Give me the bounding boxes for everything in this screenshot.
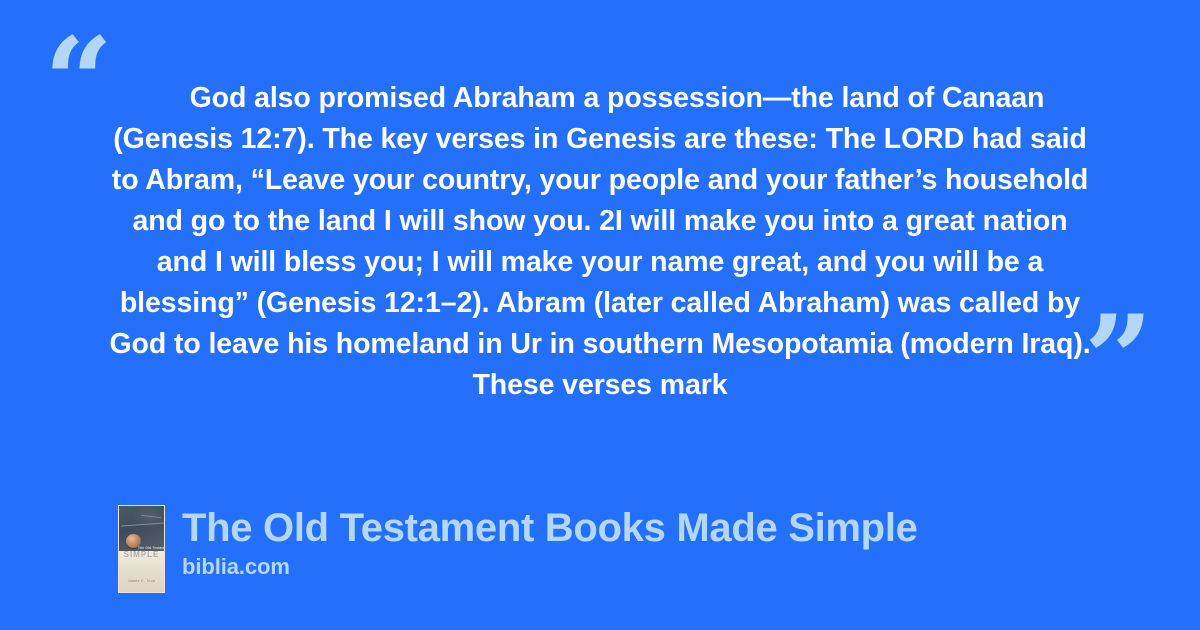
- opening-quote-icon: “: [44, 22, 111, 142]
- closing-quote-icon: ”: [1084, 300, 1151, 420]
- book-title: The Old Testament Books Made Simple: [182, 505, 918, 551]
- footer-text-block: The Old Testament Books Made Simple bibl…: [182, 505, 918, 581]
- footer: The Old Testament SIMPLE James K. Todd T…: [118, 505, 918, 593]
- quote-text: God also promised Abraham a possession—t…: [108, 78, 1092, 406]
- source-domain[interactable]: biblia.com: [182, 553, 918, 581]
- quote-card: “ God also promised Abraham a possession…: [0, 0, 1200, 630]
- book-cover-headline: SIMPLE: [119, 550, 164, 559]
- book-cover-thumbnail: The Old Testament SIMPLE James K. Todd: [118, 505, 165, 593]
- book-cover-author: James K. Todd: [119, 579, 164, 584]
